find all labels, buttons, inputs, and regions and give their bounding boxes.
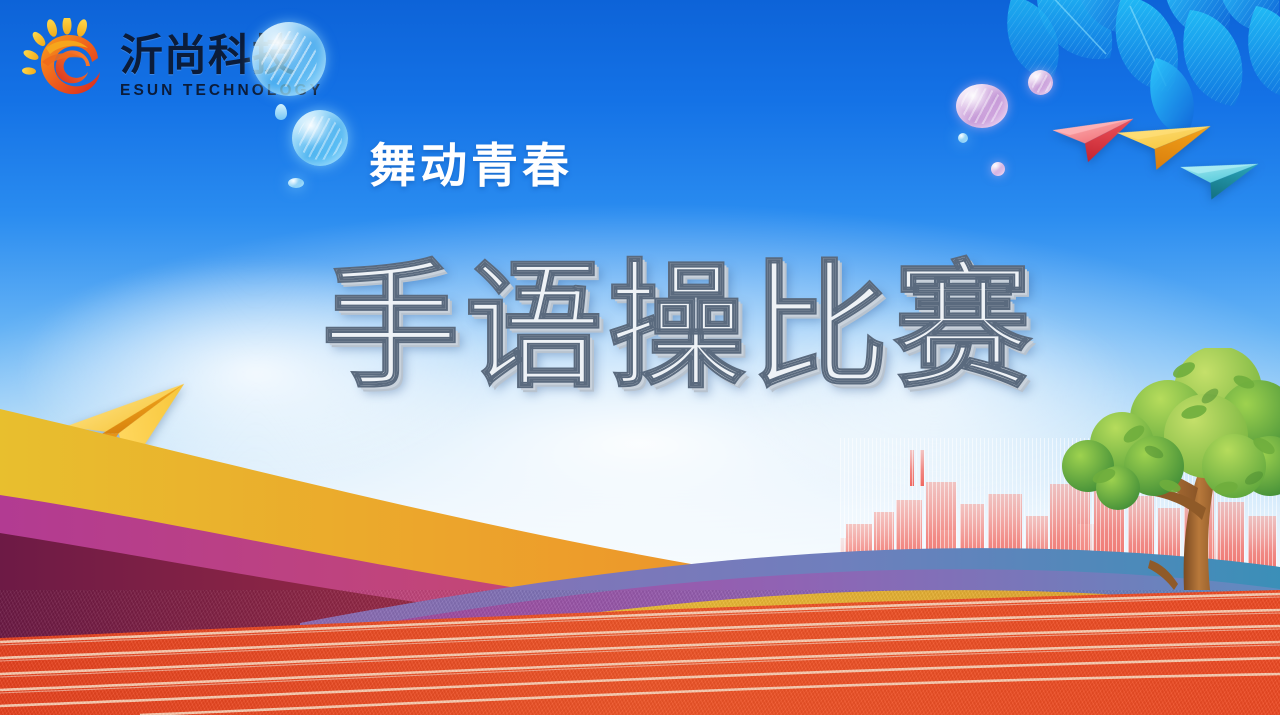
logo-water-drop-icon bbox=[275, 104, 287, 120]
bubble-pink-tiny bbox=[991, 162, 1005, 176]
poster-subtitle: 舞动青春 bbox=[369, 127, 573, 196]
sun-swirl-icon bbox=[22, 18, 114, 110]
bubble-pink-large bbox=[956, 84, 1008, 128]
poster-canvas: 沂尚科技 ESUN TECHNOLOGY 舞动青春 手语操比赛 bbox=[0, 0, 1280, 715]
green-tree-icon bbox=[1058, 348, 1280, 593]
bubble-cyan-large bbox=[292, 110, 348, 166]
logo-bubble-decoration bbox=[252, 22, 326, 96]
running-track bbox=[0, 590, 1280, 715]
bubble-cyan-dot bbox=[958, 133, 968, 143]
bubble-pink-mid bbox=[1028, 70, 1053, 95]
bubble-cyan-small bbox=[288, 178, 304, 188]
